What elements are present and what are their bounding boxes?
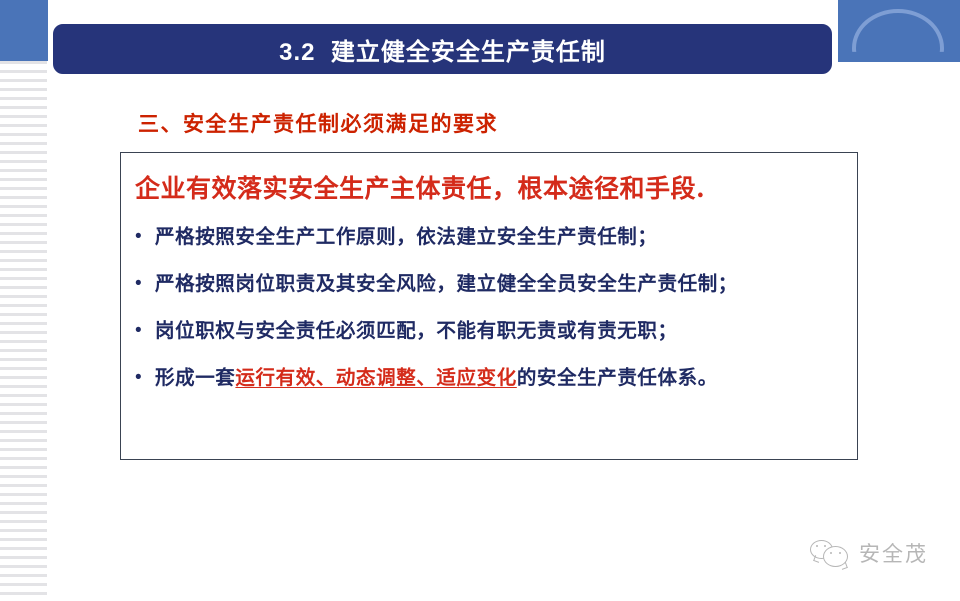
- watermark-logo: 安全茂: [810, 538, 928, 568]
- list-item-text: 岗位职权与安全责任必须匹配，不能有职无责或有责无职；: [155, 317, 849, 345]
- bullet-dot-icon: •: [129, 364, 155, 392]
- bullet-dot-icon: •: [129, 317, 155, 345]
- page-title: 3.2 建立健全安全生产责任制: [279, 32, 606, 67]
- list-item: • 严格按照岗位职责及其安全风险，建立健全全员安全生产责任制；: [129, 270, 849, 317]
- list-item-text: 形成一套运行有效、动态调整、适应变化的安全生产责任体系。: [155, 364, 849, 392]
- decor-arc-icon: [852, 9, 944, 62]
- decor-corner-block-left: [0, 0, 48, 61]
- wechat-icon: [810, 538, 850, 568]
- list-item-text: 严格按照岗位职责及其安全风险，建立健全全员安全生产责任制；: [155, 270, 849, 298]
- lead-statement: 企业有效落实安全生产主体责任，根本途径和手段.: [135, 169, 705, 205]
- requirements-list: • 严格按照安全生产工作原则，依法建立安全生产责任制； • 严格按照岗位职责及其…: [129, 223, 849, 411]
- slide-title-bar: 3.2 建立健全安全生产责任制: [50, 21, 835, 77]
- bullet-dot-icon: •: [129, 270, 155, 298]
- list-item: • 岗位职权与安全责任必须匹配，不能有职无责或有责无职；: [129, 317, 849, 364]
- list-item: • 严格按照安全生产工作原则，依法建立安全生产责任制；: [129, 223, 849, 270]
- list-item-text: 严格按照安全生产工作原则，依法建立安全生产责任制；: [155, 223, 849, 251]
- watermark-label: 安全茂: [859, 538, 928, 568]
- section-heading: 三、安全生产责任制必须满足的要求: [138, 108, 498, 138]
- slide-canvas: 3.2 建立健全安全生产责任制 三、安全生产责任制必须满足的要求 企业有效落实安…: [0, 0, 960, 601]
- decor-stripe-band: [0, 61, 47, 601]
- content-panel: 企业有效落实安全生产主体责任，根本途径和手段. • 严格按照安全生产工作原则，依…: [120, 152, 858, 460]
- bullet-dot-icon: •: [129, 223, 155, 251]
- decor-corner-block-right: [838, 0, 960, 62]
- list-item: • 形成一套运行有效、动态调整、适应变化的安全生产责任体系。: [129, 364, 849, 411]
